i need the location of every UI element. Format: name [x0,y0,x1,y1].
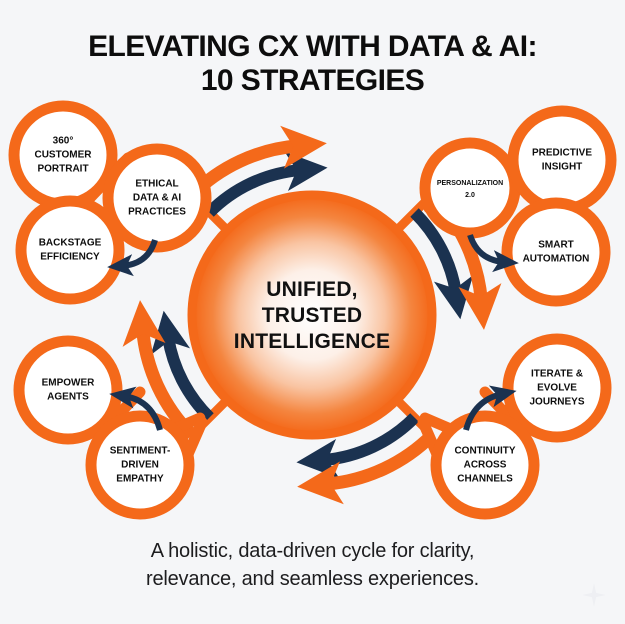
node-circle[interactable] [425,143,515,233]
node-sentiment-empathy[interactable]: SENTIMENT- DRIVEN EMPATHY [91,416,189,514]
node-backstage-efficiency[interactable]: BACKSTAGE EFFICIENCY [21,201,119,299]
node-smart-automation[interactable]: SMART AUTOMATION [507,203,605,301]
title-line-2: 10 STRATEGIES [0,64,625,98]
node-label-line: JOURNEYS [529,397,584,408]
cycle-diagram: UNIFIED, TRUSTED INTELLIGENCE [0,100,625,530]
node-personalization-20[interactable]: PERSONALIZATION 2.0 [425,143,515,233]
node-label-line: 360° [53,136,74,147]
node-label-line: EMPATHY [116,474,164,485]
node-label-line: EFFICIENCY [40,252,100,263]
page-title: ELEVATING CX WITH DATA & AI: 10 STRATEGI… [0,30,625,97]
node-label-line: AGENTS [47,392,89,403]
node-iterate-evolve[interactable]: ITERATE & EVOLVE JOURNEYS [508,339,606,437]
node-label-line: DRIVEN [121,460,159,471]
node-label-line: PRACTICES [128,207,186,218]
node-label-line: INSIGHT [542,162,583,173]
node-label-line: AUTOMATION [523,254,590,265]
node-label-line: CONTINUITY [454,446,515,457]
node-label-line: PREDICTIVE [532,148,592,159]
node-label-line: PERSONALIZATION [437,180,503,187]
node-empower-agents[interactable]: EMPOWER AGENTS [19,341,117,439]
node-label-line: BACKSTAGE [39,238,102,249]
node-label-line: PORTRAIT [37,164,88,175]
node-circle[interactable] [513,111,611,209]
caption-line-2: relevance, and seamless experiences. [0,565,625,593]
node-label-line: 2.0 [465,192,475,199]
node-circle[interactable] [507,203,605,301]
node-circle[interactable] [21,201,119,299]
node-label-line: EMPOWER [42,378,96,389]
node-label-line: CHANNELS [457,474,513,485]
node-label-line: CUSTOMER [34,150,92,161]
node-label-line: ITERATE & [531,369,583,380]
node-predictive-insight[interactable]: PREDICTIVE INSIGHT [513,111,611,209]
node-customer-portrait[interactable]: 360° CUSTOMER PORTRAIT [14,106,112,204]
core-line-2: TRUSTED [262,304,363,327]
node-label-line: SENTIMENT- [110,446,171,457]
infographic-canvas: ELEVATING CX WITH DATA & AI: 10 STRATEGI… [0,0,625,624]
core-line-1: UNIFIED, [266,278,357,301]
node-label-line: DATA & AI [133,193,182,204]
node-label-line: EVOLVE [537,383,577,394]
title-line-1: ELEVATING CX WITH DATA & AI: [88,30,537,63]
core-line-3: INTELLIGENCE [234,330,390,353]
node-continuity-channels[interactable]: CONTINUITY ACROSS CHANNELS [436,416,534,514]
node-label-line: ETHICAL [135,179,178,190]
sparkle-icon [581,582,607,608]
caption-line-1: A holistic, data-driven cycle for clarit… [151,540,475,562]
node-circle[interactable] [19,341,117,439]
node-label-line: ACROSS [464,460,507,471]
caption: A holistic, data-driven cycle for clarit… [0,537,625,594]
node-ethical-data-ai[interactable]: ETHICAL DATA & AI PRACTICES [108,149,206,247]
node-label-line: SMART [538,240,574,251]
